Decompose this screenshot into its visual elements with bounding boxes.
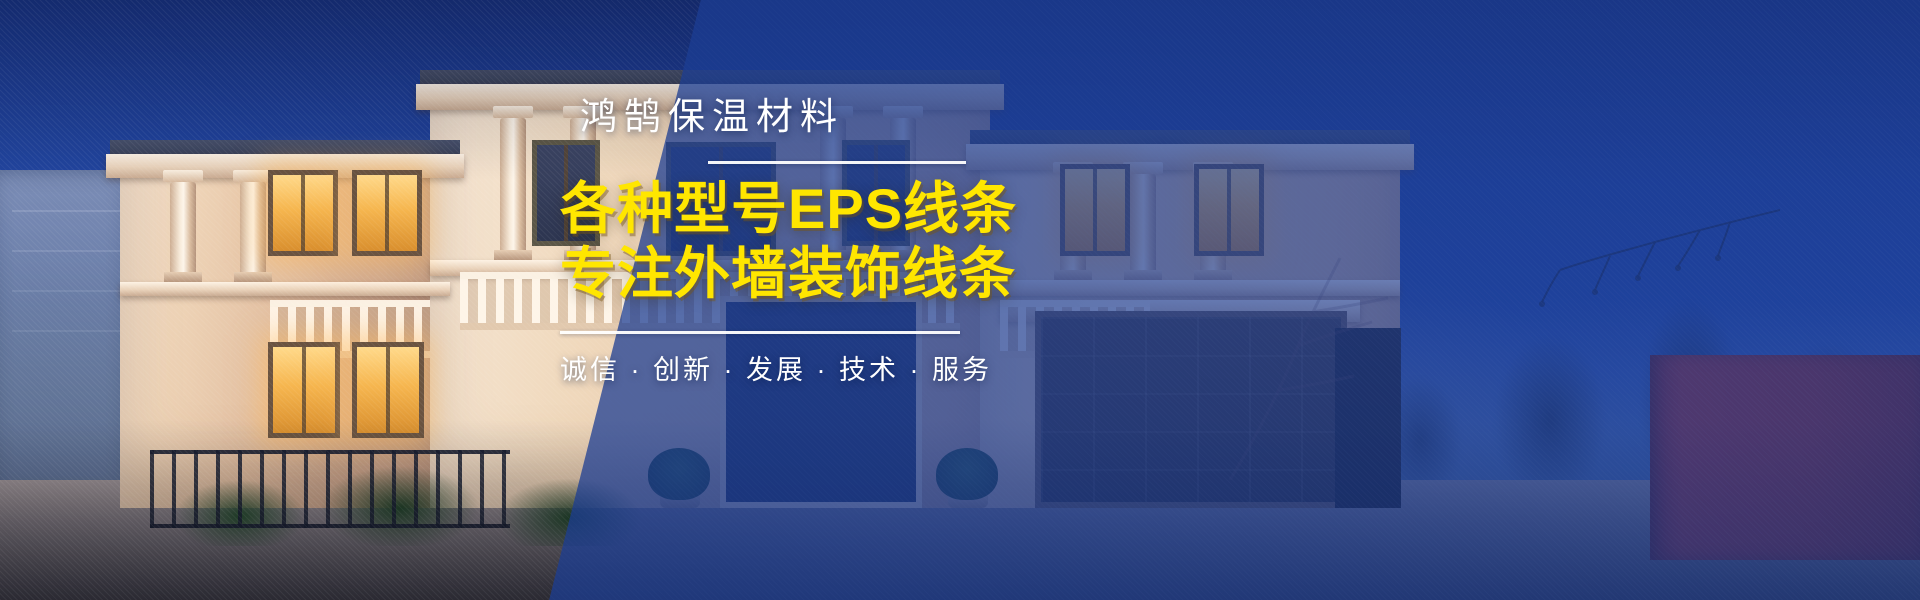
- headline-line-1: 各种型号EPS线条: [560, 178, 1200, 240]
- divider-bottom: [560, 331, 960, 334]
- divider-top: [708, 161, 966, 164]
- tagline: 诚信 · 创新 · 发展 · 技术 · 服务: [560, 354, 1200, 386]
- headline-line-2: 专注外墙装饰线条: [560, 243, 1200, 305]
- banner-text-block: 鸿鹄保温材料 各种型号EPS线条 专注外墙装饰线条 诚信 · 创新 · 发展 ·…: [560, 96, 1200, 386]
- hero-banner: 鸿鹄保温材料 各种型号EPS线条 专注外墙装饰线条 诚信 · 创新 · 发展 ·…: [0, 0, 1920, 600]
- brand-name: 鸿鹄保温材料: [560, 96, 1200, 139]
